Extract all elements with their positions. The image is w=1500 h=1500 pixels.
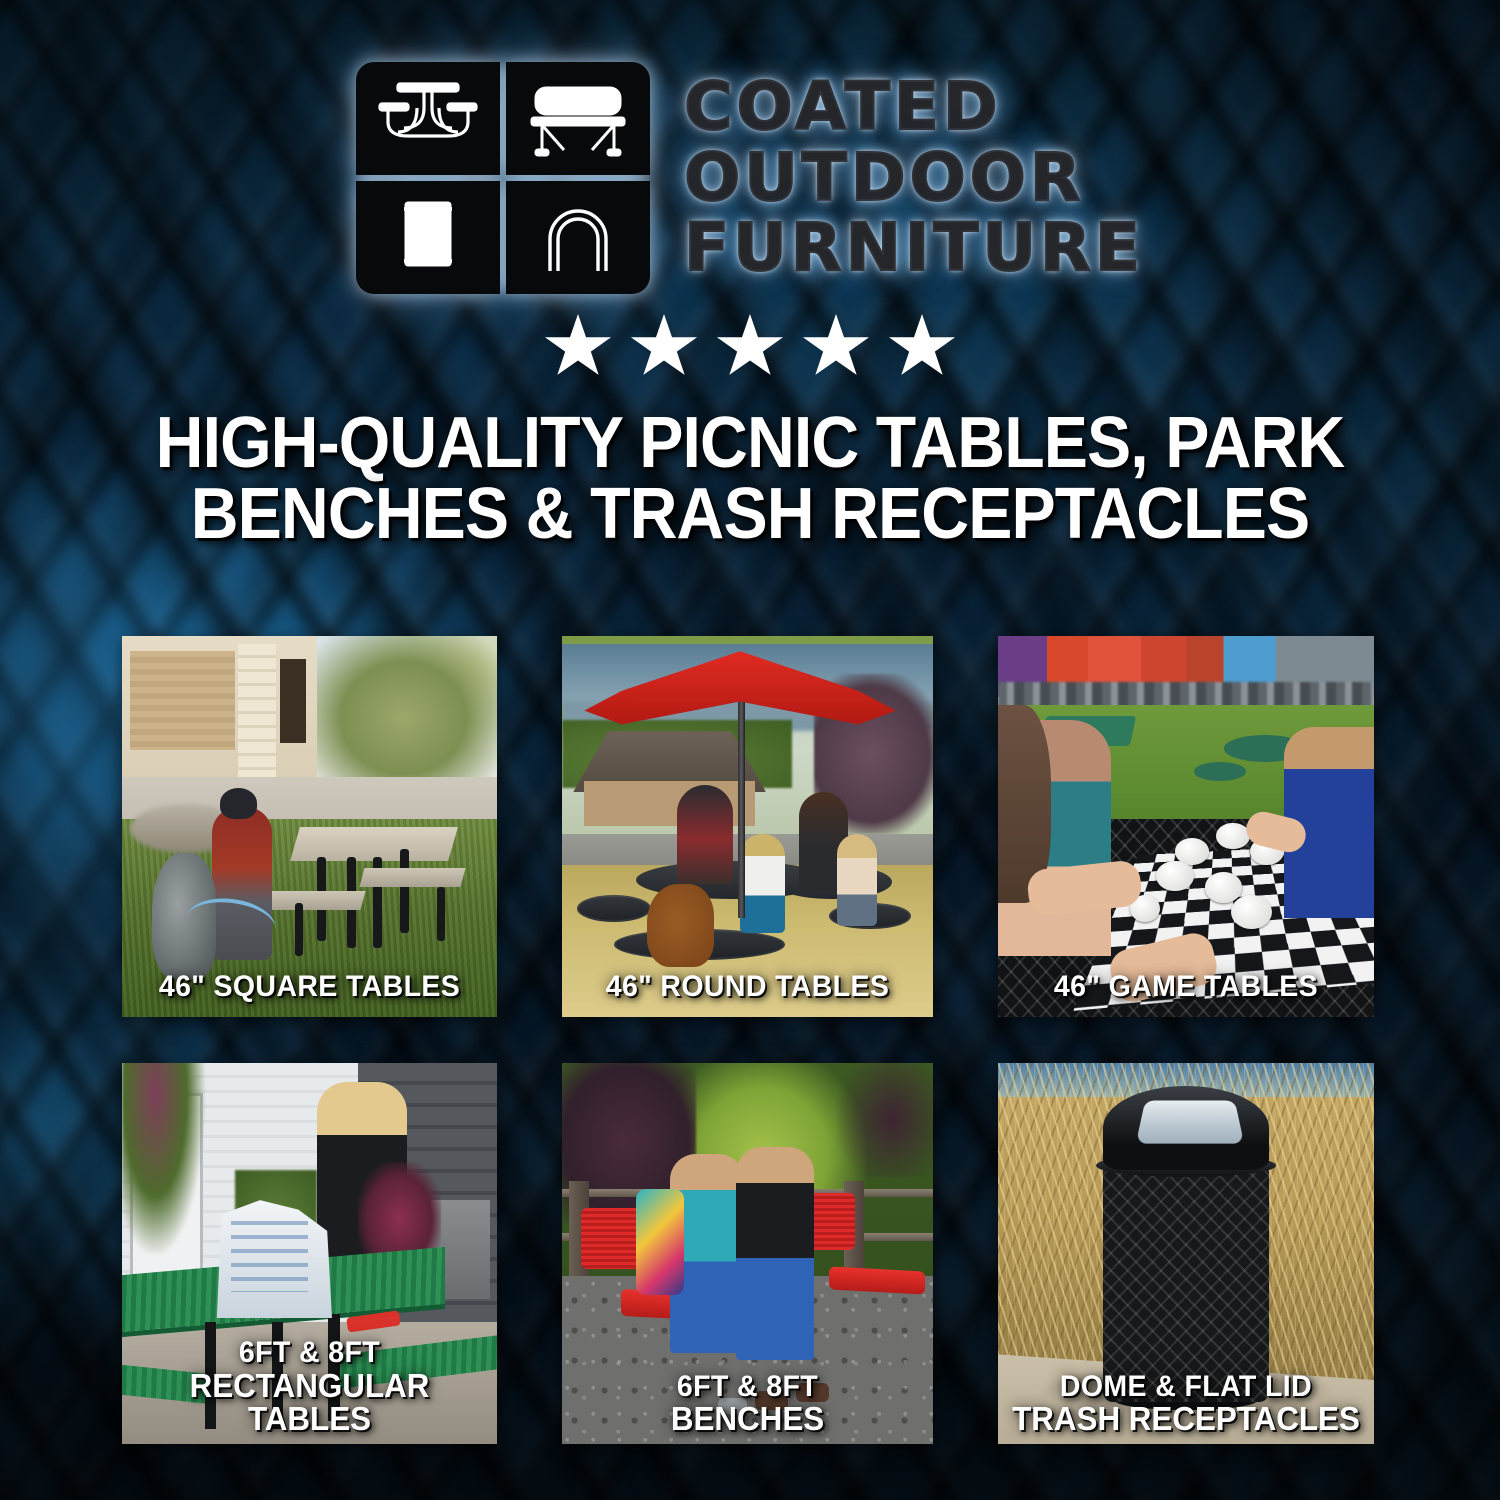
product-card-benches[interactable]: 6FT & 8FT BENCHES [562,1063,933,1444]
logo-icon-grid [356,62,650,294]
brand-wordmark: COATED OUTDOOR FURNITURE [684,73,1144,283]
banner-canvas: COATED OUTDOOR FURNITURE HIGH-QUALITY PI… [0,0,1500,1500]
product-caption-game-tables: 46" GAME TABLES [1007,972,1364,1003]
star-rating [0,314,1500,380]
caption-line-1: 46" GAME TABLES [1054,970,1318,1003]
trash-receptacle-icon [356,181,500,294]
star-icon [630,314,698,380]
caption-line-1: 6FT & 8FT [677,1370,818,1403]
product-caption-rectangular-tables: 6FT & 8FT RECTANGULAR TABLES [131,1338,487,1436]
brand-logo: COATED OUTDOOR FURNITURE [0,0,1500,294]
star-icon [802,314,870,380]
product-photo-square-tables [122,636,497,1017]
product-caption-trash-receptacles: DOME & FLAT LID TRASH RECEPTACLES [1007,1372,1364,1436]
product-card-trash-receptacles[interactable]: DOME & FLAT LID TRASH RECEPTACLES [998,1063,1374,1444]
picnic-table-icon [356,62,500,175]
park-bench-icon [506,62,650,175]
product-card-round-tables[interactable]: 46" ROUND TABLES [562,636,933,1017]
caption-line-2: BENCHES [571,1402,923,1436]
brand-wordmark-line-3: FURNITURE [684,214,1144,283]
banner-header: COATED OUTDOOR FURNITURE HIGH-QUALITY PI… [0,0,1500,549]
headline: HIGH-QUALITY PICNIC TABLES, PARK BENCHES… [60,408,1440,549]
brand-wordmark-line-2: OUTDOOR [684,144,1144,213]
product-grid: 46" SQUARE TABLES 46" ROUND TABLES [122,636,1378,1444]
headline-line-1: HIGH-QUALITY PICNIC TABLES, PARK [60,408,1440,479]
product-caption-square-tables: 46" SQUARE TABLES [131,972,487,1003]
caption-line-2: RECTANGULAR TABLES [131,1369,487,1436]
caption-line-2: TRASH RECEPTACLES [1007,1402,1364,1436]
product-card-game-tables[interactable]: 46" GAME TABLES [998,636,1374,1017]
caption-line-1: 46" ROUND TABLES [606,970,890,1003]
star-icon [544,314,612,380]
product-caption-round-tables: 46" ROUND TABLES [571,972,923,1003]
caption-line-1: DOME & FLAT LID [1060,1370,1312,1403]
bike-rack-icon [506,181,650,294]
product-card-rectangular-tables[interactable]: 6FT & 8FT RECTANGULAR TABLES [122,1063,497,1444]
headline-line-2: BENCHES & TRASH RECEPTACLES [60,479,1440,550]
product-card-square-tables[interactable]: 46" SQUARE TABLES [122,636,497,1017]
caption-line-1: 46" SQUARE TABLES [159,970,460,1003]
product-caption-benches: 6FT & 8FT BENCHES [571,1372,923,1436]
brand-wordmark-line-1: COATED [684,73,1144,142]
star-icon [888,314,956,380]
product-photo-game-tables [998,636,1374,1017]
caption-line-1: 6FT & 8FT [239,1336,380,1369]
product-photo-round-tables [562,636,933,1017]
star-icon [716,314,784,380]
